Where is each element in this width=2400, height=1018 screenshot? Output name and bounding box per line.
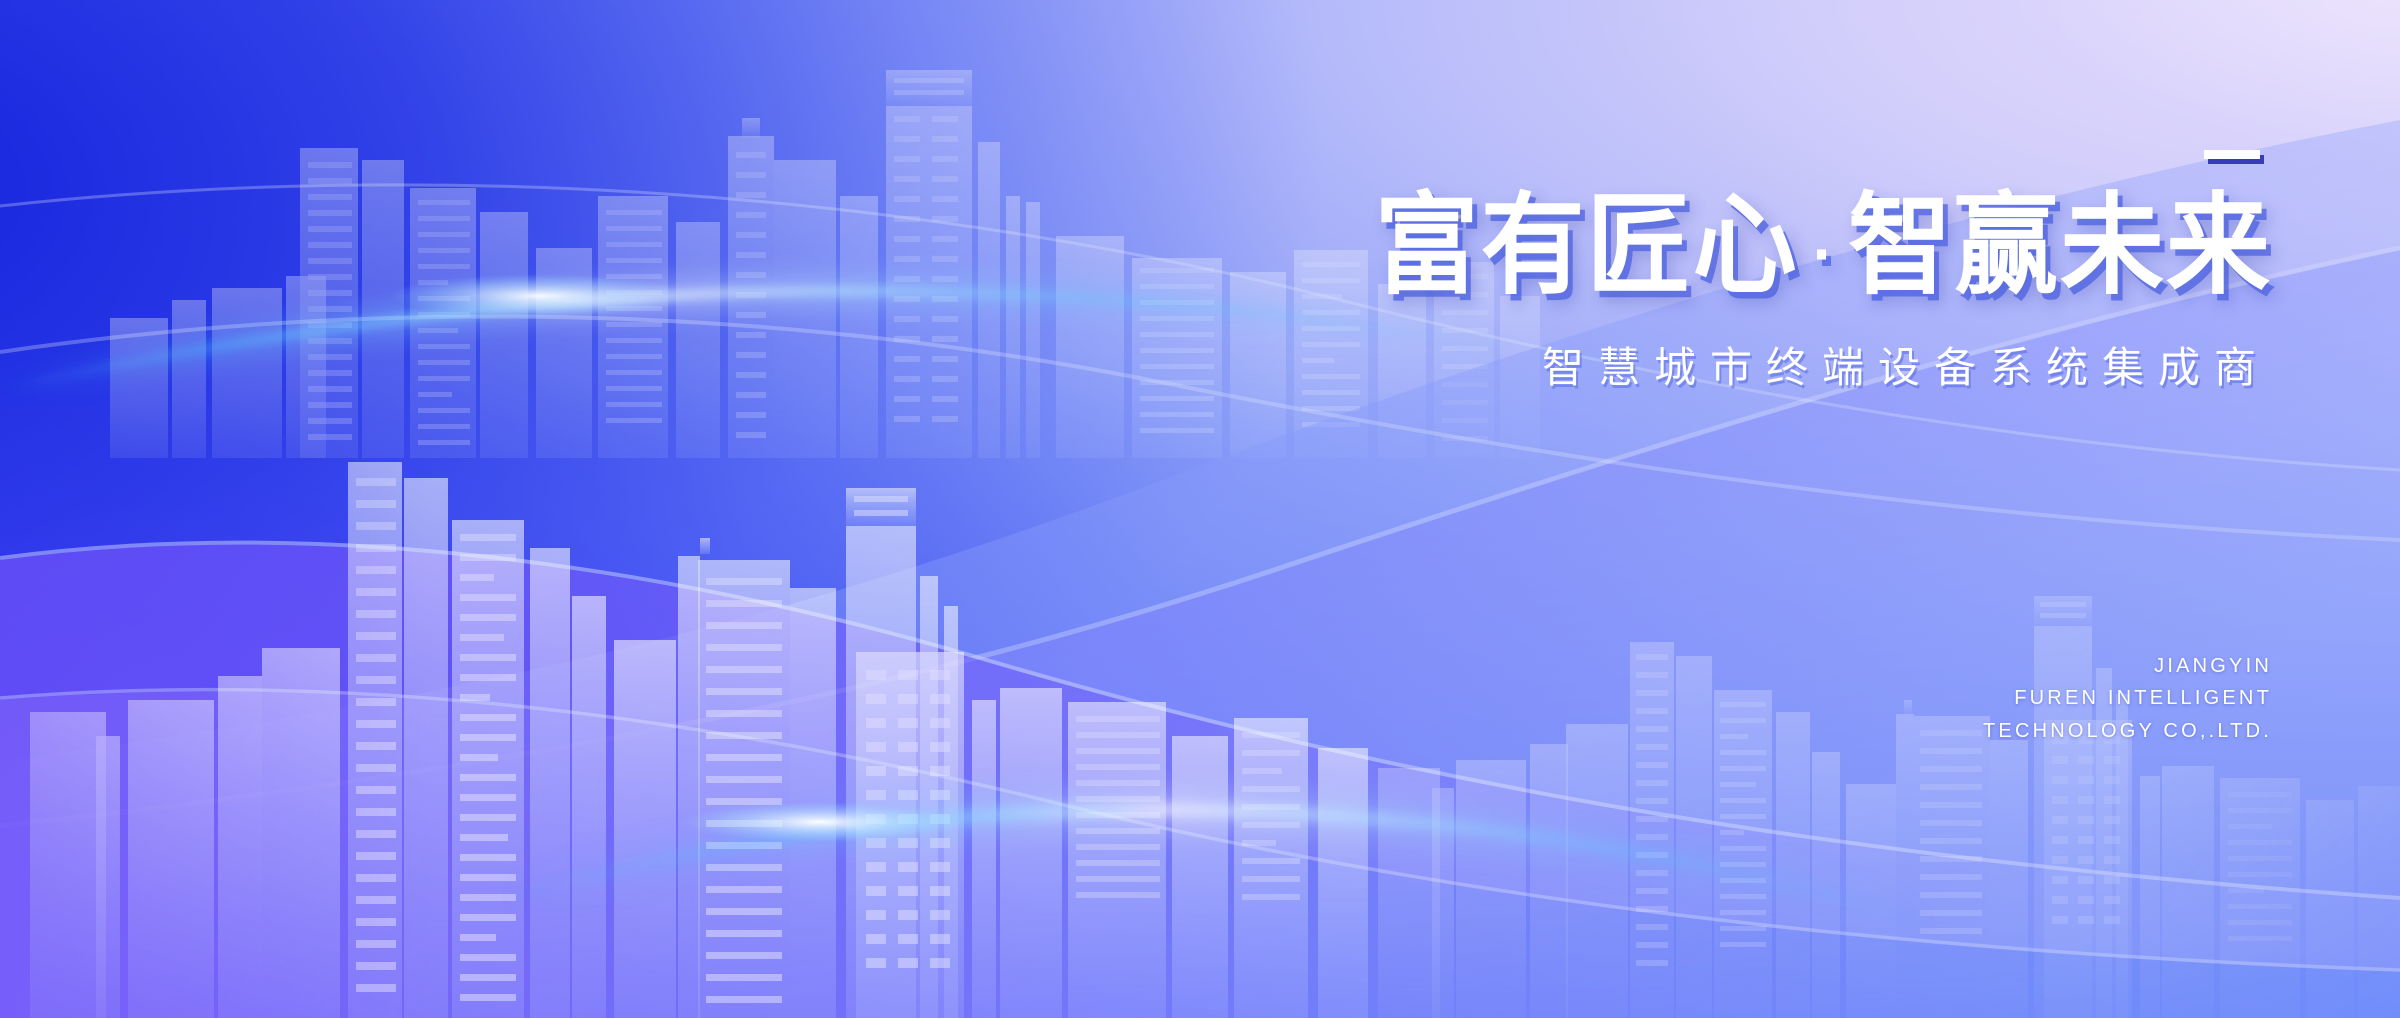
headline-separator-dot: ·	[1799, 215, 1848, 291]
glow-arc-lower-hotspot	[680, 802, 960, 842]
promotional-banner: 富有匠心·智赢未来 智慧城市终端设备系统集成商 JIANGYIN FUREN I…	[0, 0, 2400, 1018]
company-name-line-2: FUREN INTELLIGENT	[1812, 682, 2272, 714]
headline-part-left: 富有匠心	[1375, 185, 1799, 308]
dash-mark-icon	[2204, 150, 2260, 159]
headline-part-right: 智赢未来	[1848, 185, 2272, 308]
company-name-block: JIANGYIN FUREN INTELLIGENT TECHNOLOGY CO…	[1812, 650, 2272, 747]
headline-text-block: 富有匠心·智赢未来 智慧城市终端设备系统集成商	[1112, 150, 2272, 395]
page-subtitle: 智慧城市终端设备系统集成商	[1112, 334, 2272, 395]
company-name-line-3: TECHNOLOGY CO,.LTD.	[1812, 715, 2272, 747]
company-name-line-1: JIANGYIN	[1812, 650, 2272, 682]
page-title: 富有匠心·智赢未来	[1112, 185, 2272, 308]
